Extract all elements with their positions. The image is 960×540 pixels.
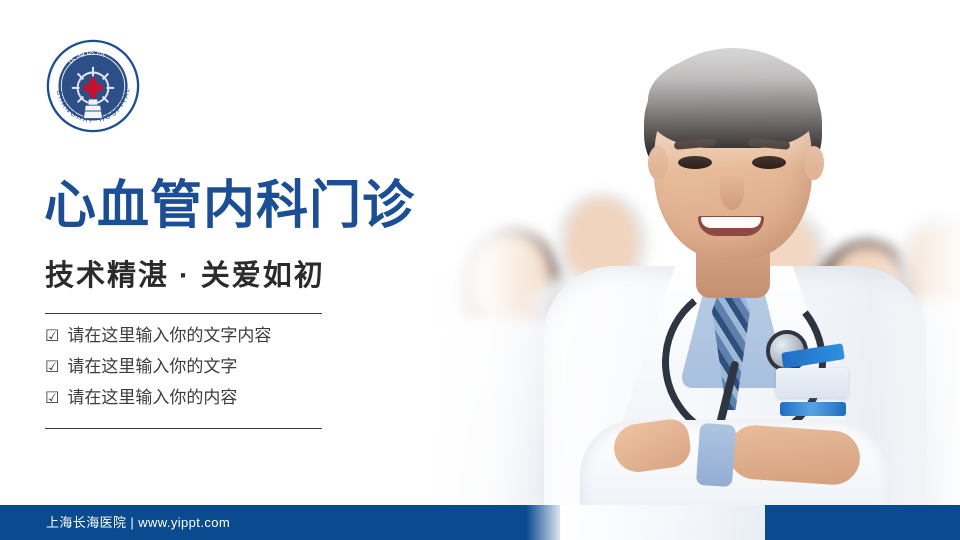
- doctor-eye-right: [752, 156, 786, 169]
- doctor-hair-front: [648, 52, 818, 148]
- slide-subtitle: 技术精湛 · 关爱如初: [45, 252, 325, 294]
- id-badge: [776, 368, 848, 398]
- checked-box-icon: ☑: [45, 360, 59, 376]
- foreground-doctor: [570, 30, 900, 512]
- doctor-ear-left: [648, 146, 668, 180]
- list-item-label: 请在这里输入你的文字内容: [67, 327, 271, 344]
- doctor-shirt-cuff: [696, 423, 736, 487]
- list-item[interactable]: ☑ 请在这里输入你的文字: [45, 358, 375, 376]
- doctor-forearm: [726, 423, 861, 486]
- footer-bar: 上海长海医院 | www.yippt.com: [0, 505, 960, 540]
- divider-top: [45, 313, 322, 314]
- presentation-slide: 长海医院 CHANGHAI HOSPITAL: [0, 0, 960, 540]
- bullet-list: ☑ 请在这里输入你的文字内容 ☑ 请在这里输入你的文字 ☑ 请在这里输入你的内容: [45, 327, 375, 420]
- divider-bottom: [45, 428, 322, 429]
- hospital-logo: 长海医院 CHANGHAI HOSPITAL: [45, 38, 141, 134]
- doctor-ear-right: [804, 146, 824, 180]
- footer-label: 上海长海医院 | www.yippt.com: [46, 505, 230, 540]
- list-item[interactable]: ☑ 请在这里输入你的文字内容: [45, 327, 375, 345]
- doctor-nose: [720, 174, 744, 210]
- checked-box-icon: ☑: [45, 329, 59, 345]
- list-item[interactable]: ☑ 请在这里输入你的内容: [45, 389, 375, 407]
- slide-title: 心血管内科门诊: [44, 178, 415, 234]
- medical-team-photo: [360, 0, 960, 512]
- id-badge-stripe: [780, 402, 846, 416]
- list-item-label: 请在这里输入你的内容: [67, 389, 237, 406]
- doctor-smile: [698, 216, 764, 236]
- doctor-eye-left: [678, 156, 712, 169]
- photo-overlap-on-footer: [560, 505, 765, 540]
- photo-canvas: [360, 0, 960, 512]
- doctor-teeth: [701, 217, 761, 228]
- checked-box-icon: ☑: [45, 391, 59, 407]
- list-item-label: 请在这里输入你的文字: [67, 358, 237, 375]
